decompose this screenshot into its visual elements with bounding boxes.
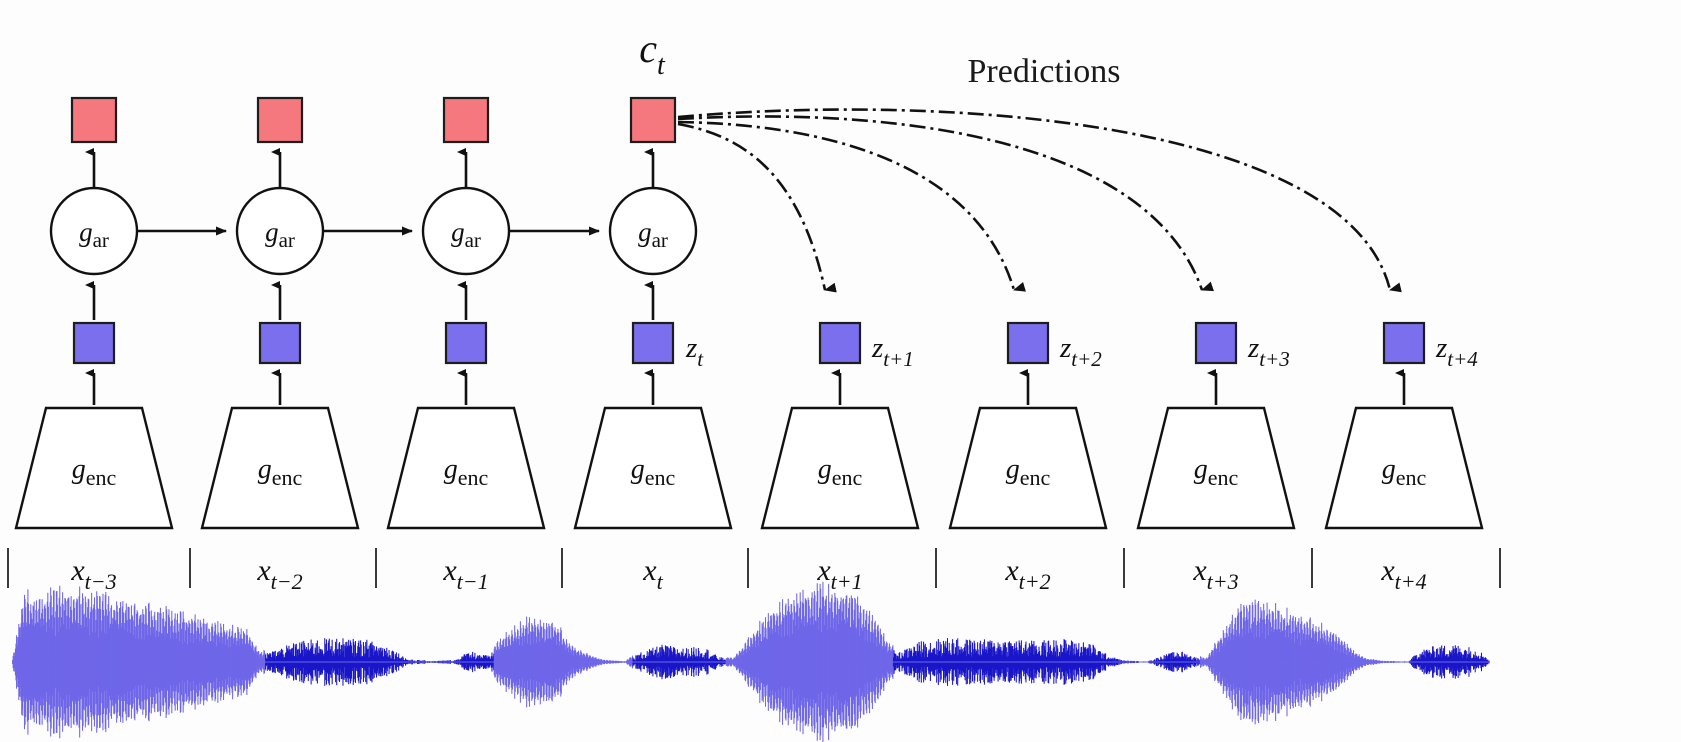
timestep-column-3: gar zt genc xt — [575, 98, 731, 594]
z-label-3: zt+3 — [1247, 332, 1290, 371]
latent-square-6 — [1196, 323, 1236, 363]
context-square-1 — [258, 98, 302, 142]
timestep-column-7: zt+4 genc xt+4 — [1326, 323, 1482, 594]
context-vector-label: ct — [639, 26, 666, 81]
timestep-column-5: zt+2 genc xt+2 — [950, 323, 1106, 594]
prediction-arc-2 — [678, 122, 1014, 290]
timestep-tick-row — [8, 548, 1500, 588]
audio-waveform — [12, 582, 1490, 742]
x-label-1: xt−2 — [256, 554, 302, 594]
prediction-arc-3 — [678, 116, 1202, 290]
x-label-2: xt−1 — [442, 554, 488, 594]
latent-square-2 — [446, 323, 486, 363]
context-square-3 — [631, 98, 675, 142]
z-label-4: zt+4 — [1435, 332, 1478, 371]
latent-square-5 — [1008, 323, 1048, 363]
latent-square-0 — [74, 323, 114, 363]
x-label-3: xt — [642, 554, 663, 594]
figure-canvas: gar genc xt−3 gar g — [0, 0, 1681, 742]
prediction-arc-4 — [678, 110, 1390, 290]
context-square-2 — [444, 98, 488, 142]
context-square-0 — [72, 98, 116, 142]
predictions-label: Predictions — [968, 53, 1121, 90]
x-label-0: xt−3 — [70, 554, 116, 594]
prediction-arcs-group — [678, 110, 1390, 290]
z-label-2: zt+2 — [1059, 332, 1102, 371]
cpc-architecture-diagram: gar genc xt−3 gar g — [0, 0, 1681, 742]
prediction-arc-1 — [678, 124, 825, 290]
z-label-0: zt — [685, 332, 704, 371]
timestep-column-2: gar genc xt−1 — [388, 98, 544, 594]
timestep-column-0: gar genc xt−3 — [16, 98, 172, 594]
timestep-column-4: zt+1 genc xt+1 — [762, 323, 918, 594]
latent-square-7 — [1384, 323, 1424, 363]
x-label-6: xt+3 — [1192, 554, 1238, 594]
timestep-column-6: zt+3 genc xt+3 — [1138, 323, 1294, 594]
latent-square-1 — [260, 323, 300, 363]
timestep-column-1: gar genc xt−2 — [202, 98, 358, 594]
latent-square-4 — [820, 323, 860, 363]
x-label-5: xt+2 — [1004, 554, 1050, 594]
x-label-7: xt+4 — [1380, 554, 1426, 594]
latent-square-3 — [633, 323, 673, 363]
z-label-1: zt+1 — [871, 332, 914, 371]
